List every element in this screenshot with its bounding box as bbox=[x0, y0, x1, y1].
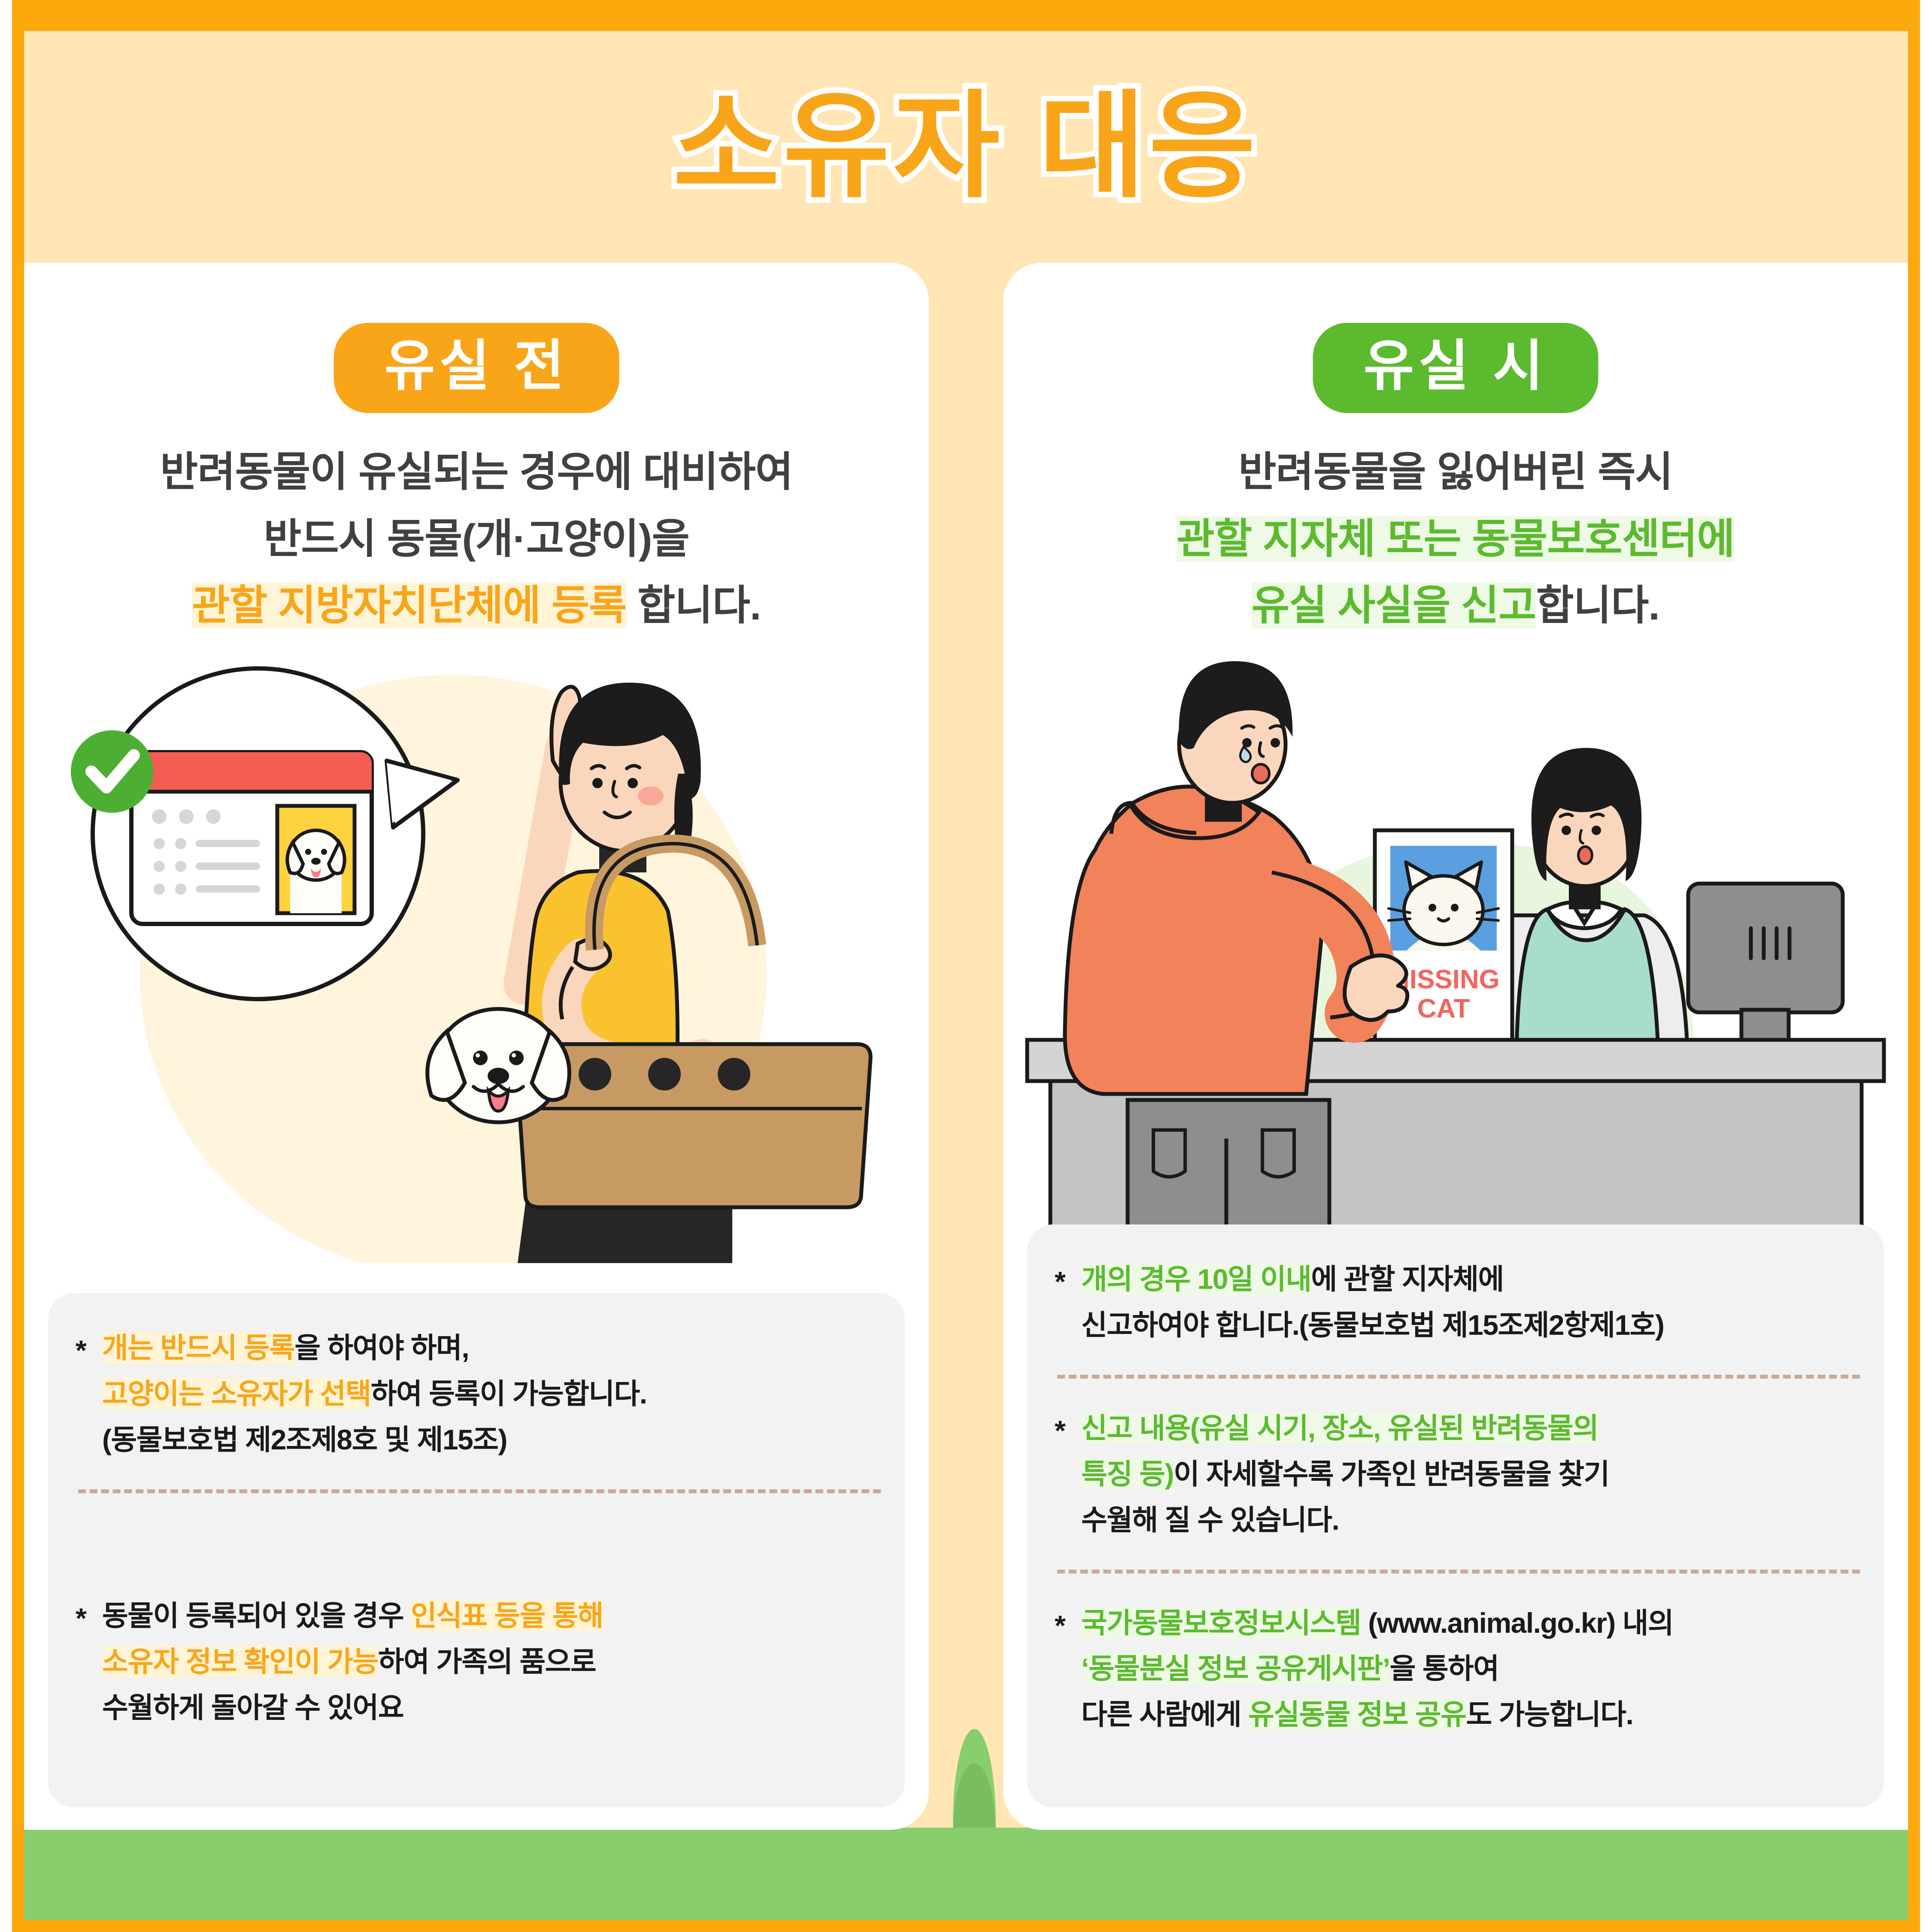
note-0-seg2-rest: 하여 등록이 가능합니다. bbox=[371, 1378, 647, 1410]
desktop-monitor bbox=[1688, 884, 1843, 1045]
note-bullet-star: * bbox=[76, 1595, 86, 1641]
note-0-seg3: (동물보호법 제2조제8호 및 제15조) bbox=[102, 1424, 507, 1455]
note-bullet-star: * bbox=[76, 1327, 86, 1373]
note-item: * 동물이 등록되어 있을 경우 인식표 등을 통해 소유자 정보 확인이 가능… bbox=[76, 1593, 883, 1731]
lead-text-before-loss: 반려동물이 유실되는 경우에 대비하여 반드시 동물(개·고양이)을 관할 지방… bbox=[24, 439, 929, 639]
note-item: * 신고 내용(유실 시기, 장소, 유실된 반려동물의 특징 등)이 자세할수… bbox=[1055, 1405, 1862, 1543]
lead-line-3-rest: 합니다. bbox=[1536, 583, 1659, 629]
note-bullet-star: * bbox=[1055, 1259, 1065, 1305]
rnote-2-seg1-hl: 국가동물보호정보시스템 bbox=[1081, 1607, 1361, 1639]
lead-line-2: 반드시 동물(개·고양이)을 bbox=[264, 516, 689, 562]
lead-line-1: 반려동물이 유실되는 경우에 대비하여 bbox=[160, 449, 793, 495]
note-1-seg1-rest: 동물이 등록되어 있을 경우 bbox=[102, 1600, 411, 1631]
panel-on-loss: 유실 시 반려동물을 잃어버린 즉시 관할 지자체 또는 동물보호센터에 유실 … bbox=[1003, 263, 1908, 1830]
badge-before-loss: 유실 전 bbox=[334, 323, 619, 413]
note-item: * 국가동물보호정보시스템 (www.animal.go.kr) 내의 ‘동물분… bbox=[1055, 1600, 1862, 1738]
frame-top-bar bbox=[12, 0, 1920, 31]
rnote-2-seg2-rest: 을 통하여 bbox=[1390, 1653, 1499, 1684]
note-divider bbox=[1057, 1375, 1860, 1379]
check-icon bbox=[71, 730, 153, 813]
rnote-2-seg3-rest2: 도 가능합니다. bbox=[1466, 1698, 1633, 1730]
page-header: 소유자 대응 bbox=[24, 31, 1908, 263]
lead-text-on-loss: 반려동물을 잃어버린 즉시 관할 지자체 또는 동물보호센터에 유실 사실을 신… bbox=[1003, 439, 1908, 639]
rnote-0-seg1-rest: 에 관할 지자체에 bbox=[1311, 1263, 1503, 1295]
rnote-0-seg1-hl: 개의 경우 10일 이내 bbox=[1081, 1263, 1311, 1295]
rnote-1-seg3: 수월해 질 수 있습니다. bbox=[1081, 1504, 1339, 1536]
rnote-1-seg1-hl: 신고 내용(유실 시기, 장소, 유실된 반려동물의 bbox=[1081, 1412, 1598, 1444]
bottom-green-band bbox=[24, 1828, 1908, 1920]
rnote-1-seg2-rest: 이 자세할수록 가족인 반려동물을 찾기 bbox=[1174, 1458, 1609, 1490]
illustration-missing-cat-report: MISSING CAT bbox=[1003, 632, 1908, 1263]
rnote-1-seg2-hl: 특징 등) bbox=[1081, 1458, 1174, 1490]
note-1-seg3: 수월하게 돌아갈 수 있어요 bbox=[102, 1692, 403, 1723]
note-divider bbox=[78, 1489, 881, 1493]
note-item: * 개는 반드시 등록을 하여야 하며, 고양이는 소유자가 선택하여 등록이 … bbox=[76, 1325, 883, 1463]
panel-before-loss: 유실 전 반려동물이 유실되는 경우에 대비하여 반드시 동물(개·고양이)을 … bbox=[24, 263, 929, 1830]
note-item: * 개의 경우 10일 이내에 관할 지자체에 신고하여야 합니다.(동물보호법… bbox=[1055, 1256, 1862, 1348]
lead-line-3-highlight: 유실 사실을 신고 bbox=[1252, 583, 1536, 629]
note-1-seg2-hl: 소유자 정보 확인이 가능 bbox=[102, 1646, 378, 1677]
badge-on-loss: 유실 시 bbox=[1313, 323, 1598, 413]
page-title: 소유자 대응 bbox=[673, 89, 1259, 205]
poster-subtitle-text: CAT bbox=[1417, 994, 1470, 1024]
note-0-seg1-rest: 을 하여야 하며, bbox=[294, 1332, 469, 1364]
missing-cat-poster: MISSING CAT bbox=[1375, 830, 1512, 1045]
rnote-2-seg1-rest: (www.animal.go.kr) 내의 bbox=[1361, 1607, 1673, 1639]
note-0-seg1-hl: 개는 반드시 등록 bbox=[102, 1332, 294, 1364]
note-spacer bbox=[76, 1520, 883, 1593]
rnote-2-seg3-rest1: 다른 사람에게 bbox=[1081, 1698, 1248, 1730]
illustration-woman-with-pet-carrier bbox=[24, 632, 929, 1263]
note-bullet-star: * bbox=[1055, 1408, 1065, 1454]
rnote-0-seg2: 신고하여야 합니다.(동물보호법 제15조제2항제1호) bbox=[1081, 1309, 1664, 1341]
rnote-2-seg2-hl: ‘동물분실 정보 공유게시판’ bbox=[1081, 1653, 1390, 1684]
note-bullet-star: * bbox=[1055, 1603, 1065, 1649]
lead-line-3-highlight: 관할 지방자치단체에 등록 bbox=[192, 583, 626, 629]
notes-before-loss: * 개는 반드시 등록을 하여야 하며, 고양이는 소유자가 선택하여 등록이 … bbox=[48, 1293, 905, 1807]
note-1-seg2-rest: 하여 가족의 품으로 bbox=[378, 1646, 596, 1677]
note-1-seg1-hl: 인식표 등을 통해 bbox=[411, 1600, 603, 1631]
rnote-2-seg3-hl: 유실동물 정보 공유 bbox=[1248, 1698, 1466, 1730]
note-0-seg2-hl: 고양이는 소유자가 선택 bbox=[102, 1378, 371, 1410]
lead-line-3-rest: 합니다. bbox=[626, 583, 761, 629]
notes-on-loss: * 개의 경우 10일 이내에 관할 지자체에 신고하여야 합니다.(동물보호법… bbox=[1027, 1224, 1884, 1807]
note-divider bbox=[1057, 1570, 1860, 1574]
lead-line-2-highlight: 관할 지자체 또는 동물보호센터에 bbox=[1177, 516, 1735, 562]
dog-photo bbox=[287, 830, 344, 913]
lead-line-1: 반려동물을 잃어버린 즉시 bbox=[1238, 449, 1673, 495]
